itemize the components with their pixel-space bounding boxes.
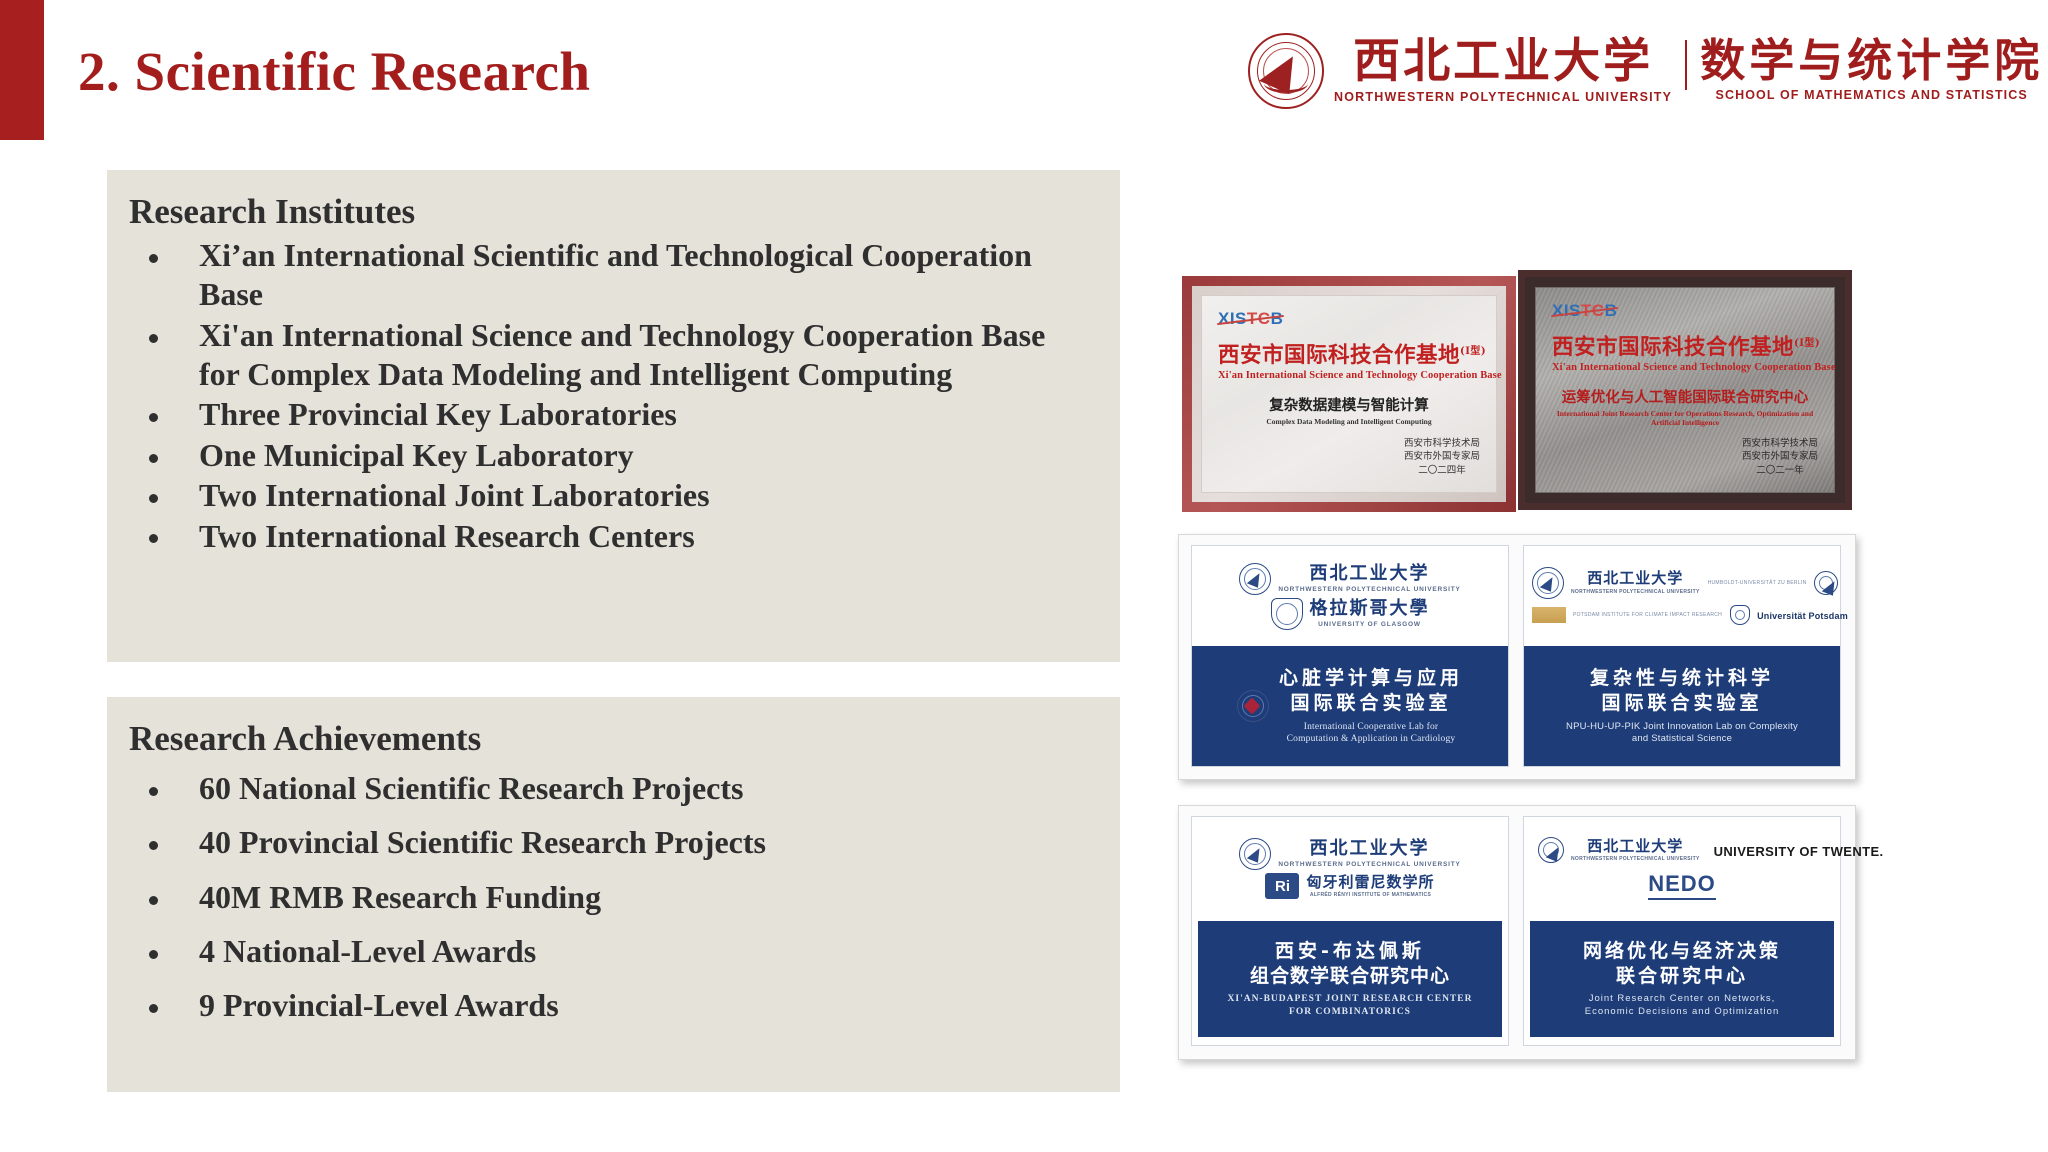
org-npu: 西北工业大学 NORTHWESTERN POLYTECHNICAL UNIVER… — [1239, 838, 1460, 870]
bullet-dot-icon — [149, 413, 158, 422]
sign-title-cn-line1: 心脏学计算与应用 — [1279, 666, 1463, 691]
npu-seal-icon — [1248, 33, 1324, 109]
list-item-text: Xi'an International Science and Technolo… — [199, 317, 1045, 392]
org-name-cn: 西北工业大学 — [1587, 571, 1683, 587]
org-name-cn: 西北工业大学 — [1310, 565, 1430, 584]
npu-badge-icon — [1239, 838, 1271, 870]
org-name-en: NORTHWESTERN POLYTECHNICAL UNIVERSITY — [1278, 586, 1460, 593]
bullet-dot-icon — [149, 254, 158, 263]
org-name-en: UNIVERSITY OF GLASGOW — [1318, 621, 1421, 628]
glasgow-crest-icon — [1271, 598, 1303, 630]
page-title: 2. Scientific Research — [78, 40, 591, 103]
sign-title-en-line2: Computation & Application in Cardiology — [1279, 733, 1463, 746]
org-name-en: POTSDAM INSTITUTE FOR CLIMATE IMPACT RES… — [1573, 612, 1722, 618]
org-name-cn: 匈牙利雷尼数学所 — [1306, 875, 1434, 891]
logo-divider — [1685, 40, 1687, 90]
nedo-logo: NEDO — [1648, 871, 1716, 900]
bullet-dot-icon — [149, 841, 158, 850]
sign-title-en-line2: Economic Decisions and Optimization — [1585, 1006, 1779, 1019]
org-name-en: HUMBOLDT-UNIVERSITÄT ZU BERLIN — [1708, 580, 1807, 586]
list-item: One Municipal Key Laboratory — [125, 436, 1090, 475]
org-name-en: NORTHWESTERN POLYTECHNICAL UNIVERSITY — [1278, 861, 1460, 868]
research-achievements-list: 60 National Scientific Research Projects… — [125, 769, 1090, 1026]
university-name-en: NORTHWESTERN POLYTECHNICAL UNIVERSITY — [1334, 90, 1672, 104]
research-achievements-panel: Research Achievements 60 National Scient… — [107, 697, 1120, 1092]
sign-title-en-line1: Joint Research Center on Networks, — [1589, 993, 1776, 1006]
org-renyi: Ri 匈牙利雷尼数学所 ALFRÉD RÉNYI INSTITUTE OF MA… — [1265, 873, 1434, 899]
sign-title-cn-line1: 复杂性与统计科学 — [1590, 666, 1774, 691]
plaque-photo-cooperation-base-2024: XISTCB 西安市国际科技合作基地(I型) Xi'an Internation… — [1182, 276, 1516, 512]
potsdam-crest-icon — [1730, 605, 1750, 625]
sign-title-cn-line1: 西安-布达佩斯 — [1275, 939, 1425, 964]
bullet-dot-icon — [149, 896, 158, 905]
title-accent-bar — [0, 0, 44, 140]
list-item-text: 9 Provincial-Level Awards — [199, 987, 559, 1023]
school-name-cn: 数学与统计学院 — [1700, 38, 2043, 85]
school-name-en: SCHOOL OF MATHEMATICS AND STATISTICS — [1716, 88, 2028, 102]
list-item-text: One Municipal Key Laboratory — [199, 437, 634, 473]
list-item: Three Provincial Key Laboratories — [125, 395, 1090, 434]
plaque-title-cn: 西安市国际科技合作基地(I型) — [1218, 338, 1480, 369]
list-item-text: Two International Research Centers — [199, 518, 695, 554]
list-item: Xi’an International Scientific and Techn… — [125, 236, 1090, 315]
bullet-dot-icon — [149, 334, 158, 343]
slide-canvas: 2. Scientific Research 西北工业大学 NORTHWESTE… — [0, 0, 2048, 1152]
org-name-cn: 西北工业大学 — [1587, 839, 1683, 855]
research-achievements-heading: Research Achievements — [129, 719, 1090, 759]
renyi-logo-icon: Ri — [1265, 873, 1299, 899]
list-item-text: 40M RMB Research Funding — [199, 879, 601, 915]
npu-badge-icon — [1239, 563, 1271, 595]
plaque-subtitle-en: International Joint Research Center for … — [1552, 409, 1818, 427]
list-item: 60 National Scientific Research Projects — [125, 769, 1090, 808]
sign-title-en-line2: and Statistical Science — [1632, 733, 1732, 746]
npu-badge-icon — [1532, 567, 1564, 599]
org-pik: POTSDAM INSTITUTE FOR CLIMATE IMPACT RES… — [1532, 607, 1722, 623]
bullet-dot-icon — [149, 534, 158, 543]
plaque-issuer: 西安市科学技术局 西安市外国专家局 二〇二四年 — [1404, 437, 1480, 478]
org-name-en: NORTHWESTERN POLYTECHNICAL UNIVERSITY — [1571, 856, 1700, 862]
sign-title-en-line1: NPU-HU-UP-PIK Joint Innovation Lab on Co… — [1566, 721, 1798, 734]
research-institutes-heading: Research Institutes — [129, 192, 1090, 232]
school-name-block: 数学与统计学院 SCHOOL OF MATHEMATICS AND STATIS… — [1700, 38, 2043, 102]
sign-budapest-center: 西北工业大学 NORTHWESTERN POLYTECHNICAL UNIVER… — [1191, 816, 1509, 1046]
research-institutes-list: Xi’an International Scientific and Techn… — [125, 236, 1090, 556]
org-name-en: Universität Potsdam — [1757, 611, 1848, 621]
plaque-subtitle-en: Complex Data Modeling and Intelligent Co… — [1218, 417, 1480, 426]
sign-twente-center: 西北工业大学 NORTHWESTERN POLYTECHNICAL UNIVER… — [1523, 816, 1841, 1046]
list-item-text: 40 Provincial Scientific Research Projec… — [199, 824, 766, 860]
org-name-en: ALFRÉD RÉNYI INSTITUTE OF MATHEMATICS — [1310, 892, 1431, 898]
lab-signs-row-1: 西北工业大学 NORTHWESTERN POLYTECHNICAL UNIVER… — [1178, 534, 1856, 780]
research-institutes-panel: Research Institutes Xi’an International … — [107, 170, 1120, 662]
cardiology-emblem-icon — [1237, 690, 1269, 722]
org-glasgow: 格拉斯哥大學 UNIVERSITY OF GLASGOW — [1271, 598, 1430, 630]
list-item-text: Xi’an International Scientific and Techn… — [199, 237, 1032, 312]
university-name-block: 西北工业大学 NORTHWESTERN POLYTECHNICAL UNIVER… — [1334, 38, 1672, 104]
list-item: Two International Joint Laboratories — [125, 476, 1090, 515]
university-name-cn: 西北工业大学 — [1353, 38, 1653, 87]
list-item: 9 Provincial-Level Awards — [125, 986, 1090, 1025]
org-npu: 西北工业大学 NORTHWESTERN POLYTECHNICAL UNIVER… — [1532, 567, 1700, 599]
list-item: Two International Research Centers — [125, 517, 1090, 556]
list-item-text: Two International Joint Laboratories — [199, 477, 710, 513]
sign-complexity-lab: 西北工业大学 NORTHWESTERN POLYTECHNICAL UNIVER… — [1523, 545, 1841, 767]
org-name-cn: 西北工业大学 — [1310, 840, 1430, 859]
sign-title-en-line1: XI'AN-BUDAPEST JOINT RESEARCH CENTER — [1228, 993, 1473, 1006]
npu-badge-icon — [1538, 837, 1564, 863]
org-name-cn: 格拉斯哥大學 — [1310, 600, 1430, 619]
xistcb-logo-icon: XISTCB — [1552, 301, 1617, 321]
list-item-text: 60 National Scientific Research Projects — [199, 770, 743, 806]
pik-logo-icon — [1532, 607, 1566, 623]
org-potsdam: Universität Potsdam — [1730, 605, 1848, 625]
bullet-dot-icon — [149, 787, 158, 796]
sign-cardiology-lab: 西北工业大学 NORTHWESTERN POLYTECHNICAL UNIVER… — [1191, 545, 1509, 767]
list-item-text: Three Provincial Key Laboratories — [199, 396, 677, 432]
institution-logo: 西北工业大学 NORTHWESTERN POLYTECHNICAL UNIVER… — [1248, 28, 2043, 114]
plaque-title-en: Xi'an International Science and Technolo… — [1552, 362, 1818, 373]
bullet-dot-icon — [149, 454, 158, 463]
bullet-dot-icon — [149, 950, 158, 959]
sign-title-cn-line1: 网络优化与经济决策 — [1583, 939, 1781, 964]
list-item: 4 National-Level Awards — [125, 932, 1090, 971]
sign-title-cn-line2: 联合研究中心 — [1616, 964, 1748, 989]
plaque-issuer: 西安市科学技术局 西安市外国专家局 二〇二一年 — [1742, 437, 1818, 478]
org-humboldt: HUMBOLDT-UNIVERSITÄT ZU BERLIN — [1708, 571, 1838, 595]
plaque-title-cn: 西安市国际科技合作基地(I型) — [1552, 330, 1818, 361]
list-item: 40 Provincial Scientific Research Projec… — [125, 823, 1090, 862]
plaque-subtitle-cn: 复杂数据建模与智能计算 — [1218, 394, 1480, 415]
bullet-dot-icon — [149, 1004, 158, 1013]
sign-title-en-line1: International Cooperative Lab for — [1279, 721, 1463, 734]
org-npu: 西北工业大学 NORTHWESTERN POLYTECHNICAL UNIVER… — [1538, 837, 1700, 863]
sign-title-cn-line2: 国际联合实验室 — [1279, 691, 1463, 716]
list-item: 40M RMB Research Funding — [125, 878, 1090, 917]
org-name-en: NORTHWESTERN POLYTECHNICAL UNIVERSITY — [1571, 589, 1700, 595]
lab-signs-row-2: 西北工业大学 NORTHWESTERN POLYTECHNICAL UNIVER… — [1178, 805, 1856, 1060]
sign-title-cn-line2: 组合数学联合研究中心 — [1250, 964, 1450, 989]
sign-title-en-line2: FOR COMBINATORICS — [1289, 1006, 1411, 1019]
xistcb-logo-icon: XISTCB — [1218, 309, 1283, 329]
sign-title-cn-line2: 国际联合实验室 — [1601, 691, 1762, 716]
bullet-dot-icon — [149, 494, 158, 503]
plaque-photo-cooperation-base-2021: XISTCB 西安市国际科技合作基地(I型) Xi'an Internation… — [1518, 270, 1852, 510]
list-item: Xi'an International Science and Technolo… — [125, 316, 1090, 395]
org-name-twente: UNIVERSITY OF TWENTE. — [1714, 844, 1884, 859]
humboldt-seal-icon — [1814, 571, 1838, 595]
plaque-title-en: Xi'an International Science and Technolo… — [1218, 370, 1480, 381]
org-npu: 西北工业大学 NORTHWESTERN POLYTECHNICAL UNIVER… — [1239, 563, 1460, 595]
plaque-subtitle-cn: 运筹优化与人工智能国际联合研究中心 — [1552, 386, 1818, 407]
list-item-text: 4 National-Level Awards — [199, 933, 536, 969]
